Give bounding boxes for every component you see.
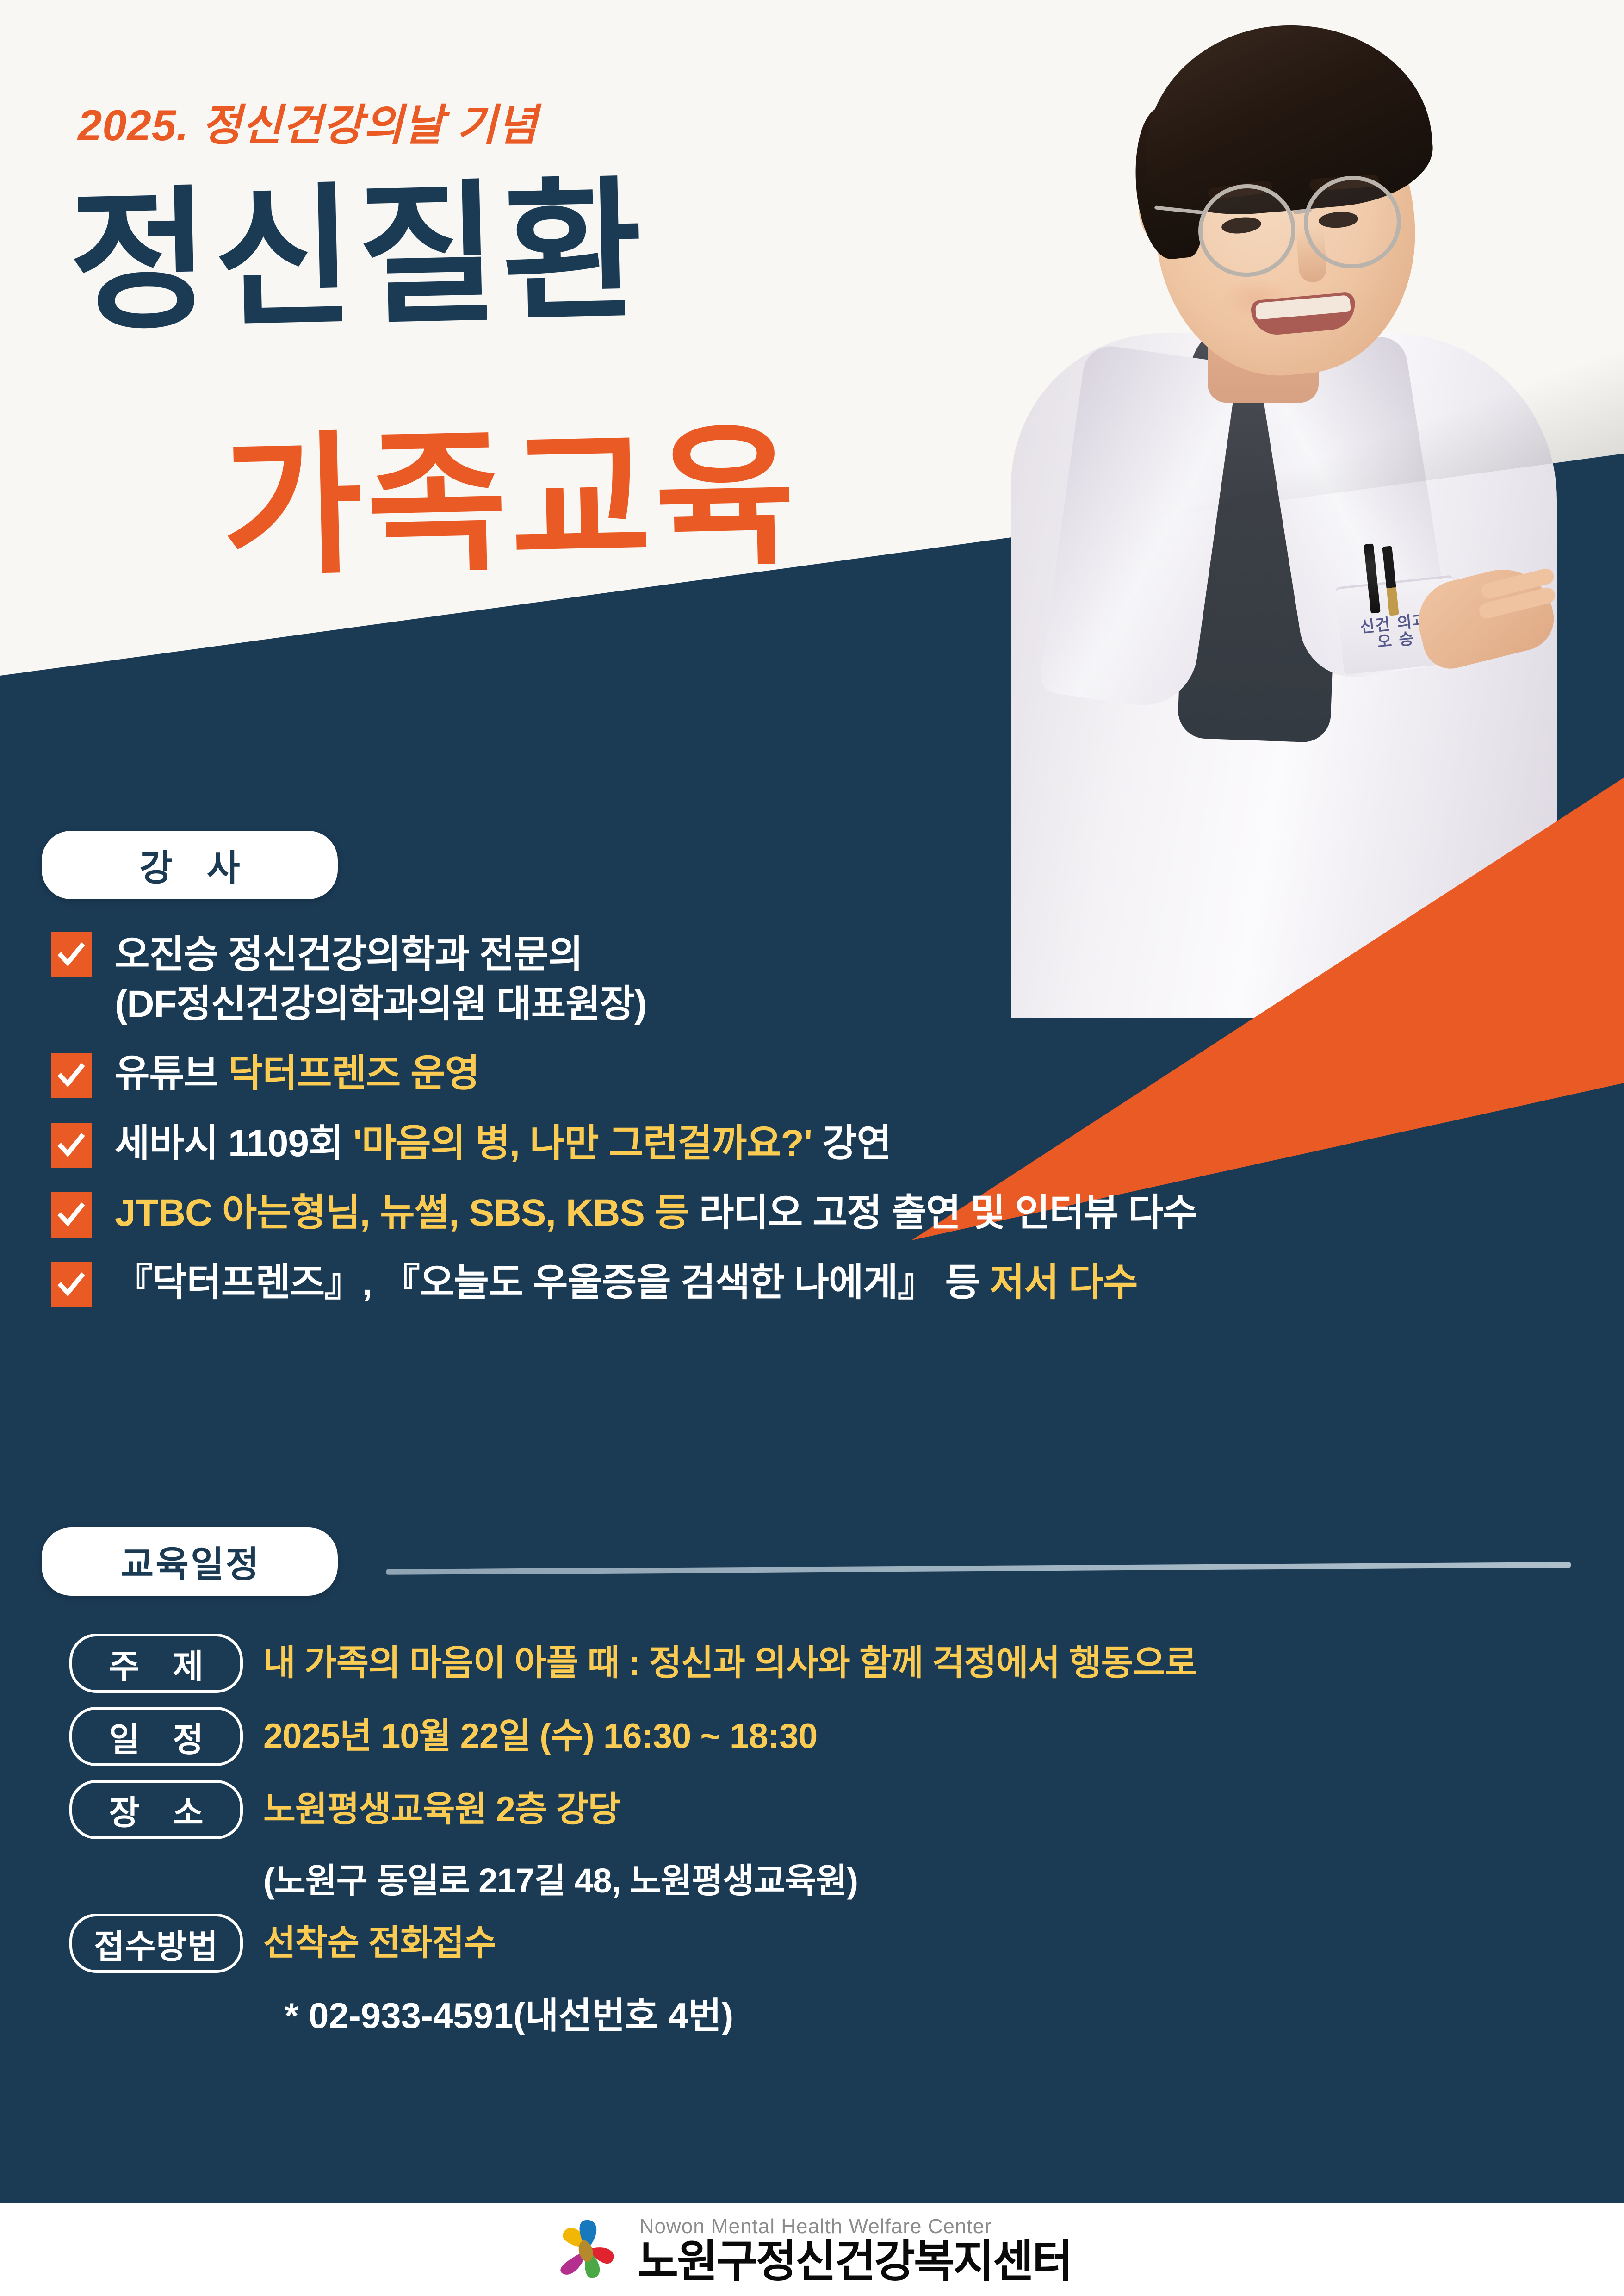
check-icon — [51, 1123, 92, 1168]
logo-korean-name: 노원구정신건강복지센터 — [638, 2240, 1072, 2284]
row-label-venue: 장 소 — [69, 1780, 243, 1839]
list-item: JTBC 아는형님, 뉴썰, SBS, KBS 등 라디오 고정 출연 및 인터… — [51, 1188, 1578, 1238]
section-badge-speaker: 강 사 — [42, 831, 338, 899]
section-divider-line — [386, 1562, 1571, 1575]
check-icon — [51, 1262, 92, 1307]
section-badge-schedule: 교육일정 — [42, 1527, 338, 1596]
registration-phone: * 02-933-4591(내선번호 4번) — [285, 1987, 1596, 2039]
list-item: 『닥터프렌즈』, 『오늘도 우울증을 검색한 나에게』 등 저서 다수 — [51, 1258, 1578, 1308]
teeth — [1255, 295, 1351, 320]
list-item-text: 오진승 정신건강의학과 전문의 (DF정신건강의학과의원 대표원장) — [115, 930, 646, 1029]
poster-title-line1: 정신질환 — [68, 174, 648, 339]
row-value-registration: 선착순 전화접수 — [263, 1914, 496, 1973]
list-item-line: (DF정신건강의학과의원 대표원장) — [115, 980, 646, 1029]
poster-root: 신건 의과 오 승 2025. 정신건강의날 기념 정신질환 — [0, 0, 1624, 2296]
row-label-date: 일 정 — [69, 1707, 243, 1766]
row-value-date: 2025년 10월 22일 (수) 16:30 ~ 18:30 — [263, 1707, 817, 1766]
logo-english-name: Nowon Mental Health Welfare Center — [639, 2215, 1072, 2238]
check-icon — [51, 1053, 92, 1098]
segment-highlight: '마음의 병, 나만 그런걸까요?' — [353, 1122, 812, 1164]
organization-logo: Nowon Mental Health Welfare Center 노원구정신… — [552, 2215, 1072, 2284]
list-item: 오진승 정신건강의학과 전문의 (DF정신건강의학과의원 대표원장) — [51, 930, 1578, 1029]
list-item-line: 오진승 정신건강의학과 전문의 — [115, 930, 646, 980]
list-item-text: JTBC 아는형님, 뉴썰, SBS, KBS 등 라디오 고정 출연 및 인터… — [115, 1188, 1197, 1238]
speaker-bullet-list: 오진승 정신건강의학과 전문의 (DF정신건강의학과의원 대표원장) 유튜브 닥… — [51, 930, 1578, 1328]
kicker-text: 2025. 정신건강의날 기념 — [78, 90, 538, 153]
table-row: 장 소 노원평생교육원 2층 강당 — [69, 1780, 1596, 1839]
segment-plain: 『닥터프렌즈』, 『오늘도 우울증을 검색한 나에게』 등 — [115, 1262, 990, 1304]
schedule-table: 주 제 내 가족의 마음이 아플 때 : 정신과 의사와 함께 걱정에서 행동으… — [69, 1634, 1596, 2039]
row-value-venue: 노원평생교육원 2층 강당 — [263, 1780, 620, 1839]
row-value-subject: 내 가족의 마음이 아플 때 : 정신과 의사와 함께 걱정에서 행동으로 — [263, 1634, 1196, 1693]
list-item-text: 유튜브 닥터프렌즈 운영 — [115, 1049, 479, 1099]
poster-title-line2: 가족교육 — [221, 420, 800, 585]
segment-plain: 강연 — [812, 1122, 891, 1164]
row-label-subject: 주 제 — [69, 1634, 243, 1693]
segment-plain: 유튜브 — [115, 1052, 228, 1095]
row-label-registration: 접수방법 — [69, 1914, 243, 1973]
check-icon — [51, 932, 92, 977]
hair — [1135, 13, 1438, 223]
list-item-text: 세바시 1109회 '마음의 병, 나만 그런걸까요?' 강연 — [115, 1119, 891, 1169]
table-row: 일 정 2025년 10월 22일 (수) 16:30 ~ 18:30 — [69, 1707, 1596, 1766]
segment-highlight: 닥터프렌즈 운영 — [228, 1052, 479, 1095]
logo-text-block: Nowon Mental Health Welfare Center 노원구정신… — [638, 2215, 1072, 2284]
table-row: 주 제 내 가족의 마음이 아플 때 : 정신과 의사와 함께 걱정에서 행동으… — [69, 1634, 1596, 1693]
check-icon — [51, 1192, 92, 1238]
list-item: 세바시 1109회 '마음의 병, 나만 그런걸까요?' 강연 — [51, 1119, 1578, 1169]
segment-plain: 세바시 1109회 — [115, 1122, 353, 1164]
venue-address: (노원구 동일로 217길 48, 노원평생교육원) — [263, 1853, 1596, 1903]
table-row: 접수방법 선착순 전화접수 — [69, 1914, 1596, 1973]
pinwheel-logo-icon — [552, 2215, 622, 2284]
list-item: 유튜브 닥터프렌즈 운영 — [51, 1049, 1578, 1099]
segment-highlight: 저서 다수 — [990, 1262, 1138, 1304]
segment-plain: 라디오 고정 출연 및 인터뷰 다수 — [689, 1192, 1197, 1234]
footer-bar: Nowon Mental Health Welfare Center 노원구정신… — [0, 2203, 1624, 2296]
list-item-text: 『닥터프렌즈』, 『오늘도 우울증을 검색한 나에게』 등 저서 다수 — [115, 1258, 1137, 1308]
segment-highlight: JTBC 아는형님, 뉴썰, SBS, KBS 등 — [115, 1192, 689, 1234]
